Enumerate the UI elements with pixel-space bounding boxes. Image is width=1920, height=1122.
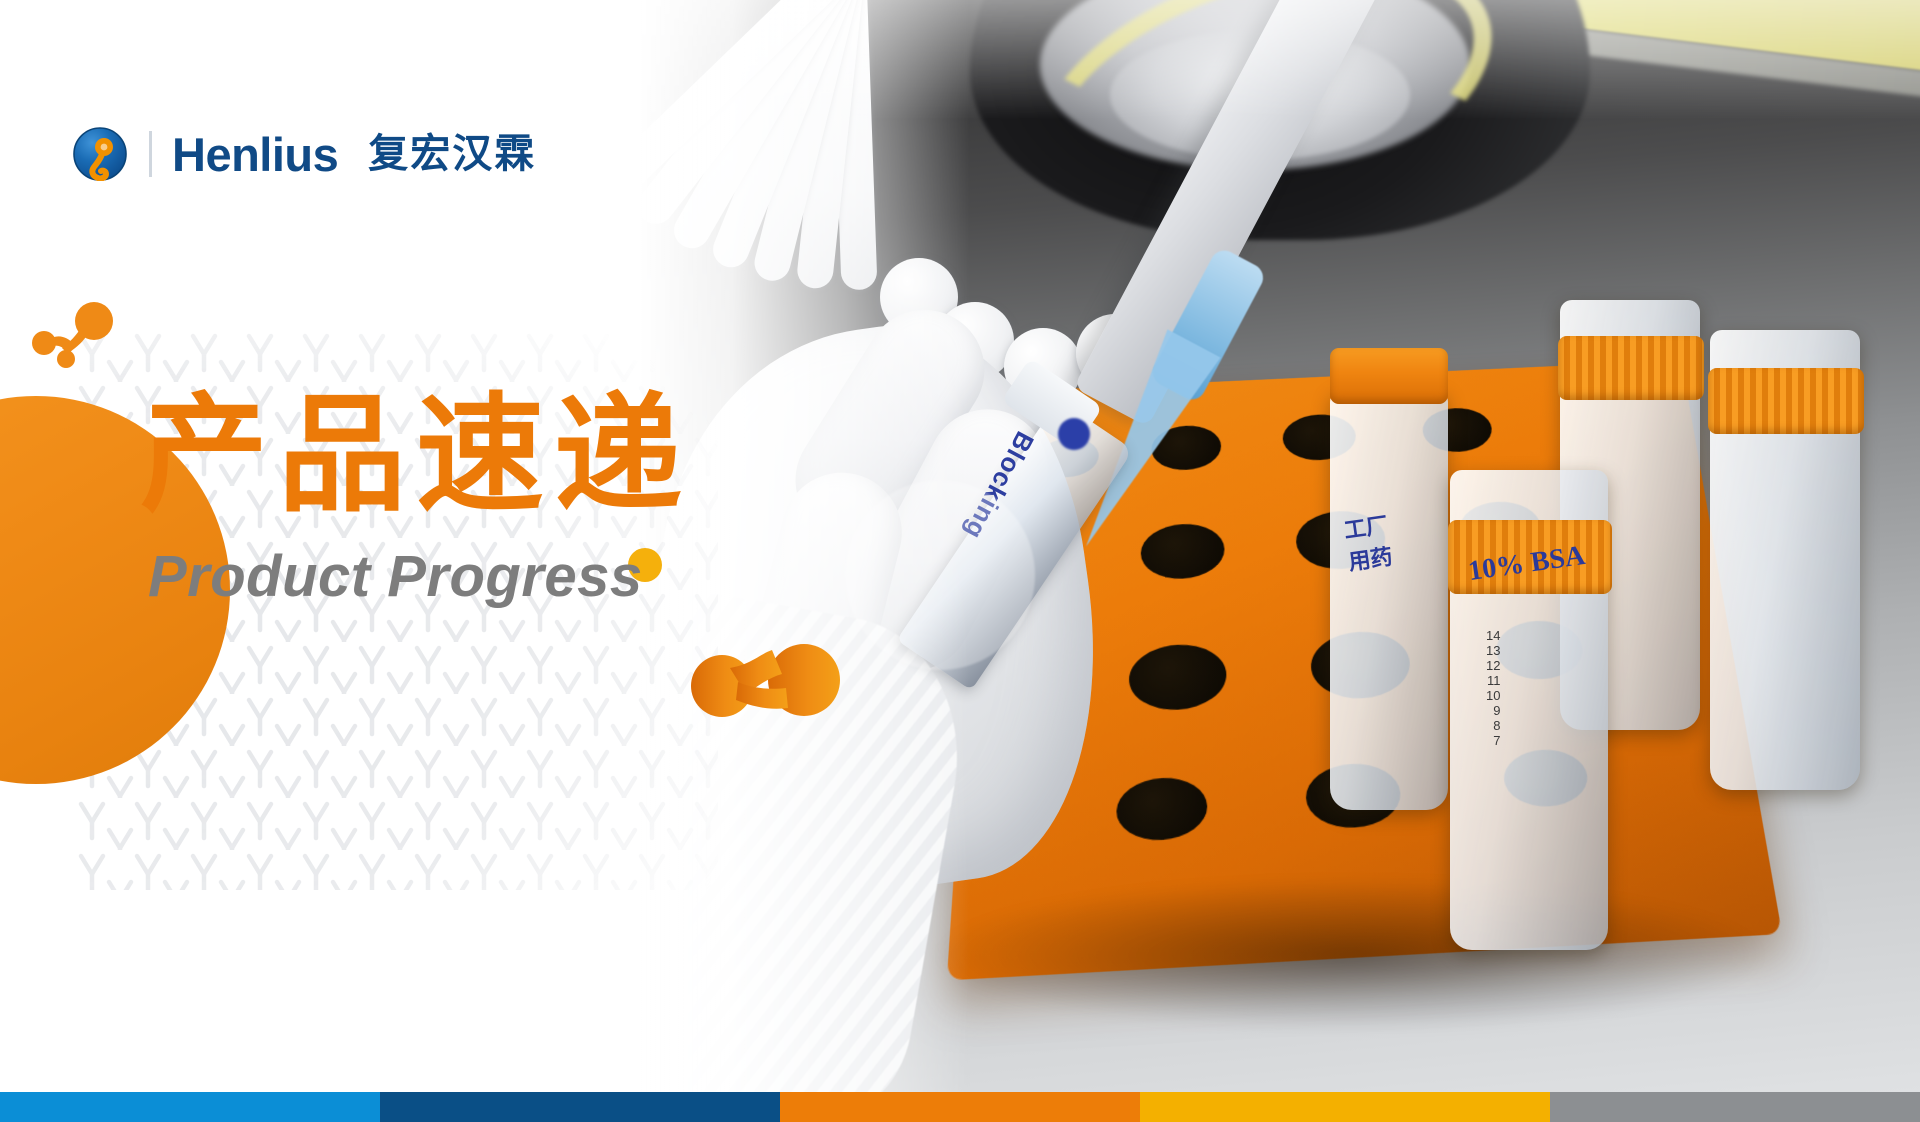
logo-wordmark: Henlius — [172, 131, 338, 178]
specimen-tube-4-graduations: 1413121110987 — [1486, 628, 1500, 748]
laboratory-photo: 工厂用药 10% BSA 1413121110987 Blocking — [640, 0, 1920, 1092]
tube-rack-shadow — [940, 880, 1760, 1030]
footer-color-bar — [0, 1092, 1920, 1122]
molecule-accent-large — [690, 638, 840, 720]
specimen-tube-2-cap — [1558, 336, 1704, 400]
footer-segment-dark-blue — [380, 1092, 780, 1122]
specimen-tube-1-cap — [1330, 348, 1448, 404]
logo-divider — [149, 131, 152, 177]
page-title-english: Product Progress — [148, 543, 692, 610]
slide-root: 工厂用药 10% BSA 1413121110987 Blocking — [0, 0, 1920, 1122]
logo-chinese-name: 复宏汉霖 — [368, 134, 536, 174]
molecule-accent-small — [30, 302, 116, 368]
henlius-logo[interactable]: Henlius 复宏汉霖 — [73, 127, 536, 181]
footer-segment-light-blue — [0, 1092, 380, 1122]
footer-segment-orange — [780, 1092, 1140, 1122]
title-block: 产品速递 Product Progress — [140, 380, 692, 610]
specimen-tube-1-scribble: 工厂用药 — [1342, 507, 1394, 577]
specimen-tube-3-cap — [1708, 368, 1864, 434]
specimen-tube-1 — [1330, 390, 1448, 810]
footer-segment-gray — [1550, 1092, 1920, 1122]
footer-segment-amber — [1140, 1092, 1550, 1122]
sample-vial-blue-mark — [1058, 418, 1090, 450]
page-title-chinese: 产品速递 — [140, 380, 692, 531]
henlius-circle-mark-icon — [73, 127, 127, 181]
